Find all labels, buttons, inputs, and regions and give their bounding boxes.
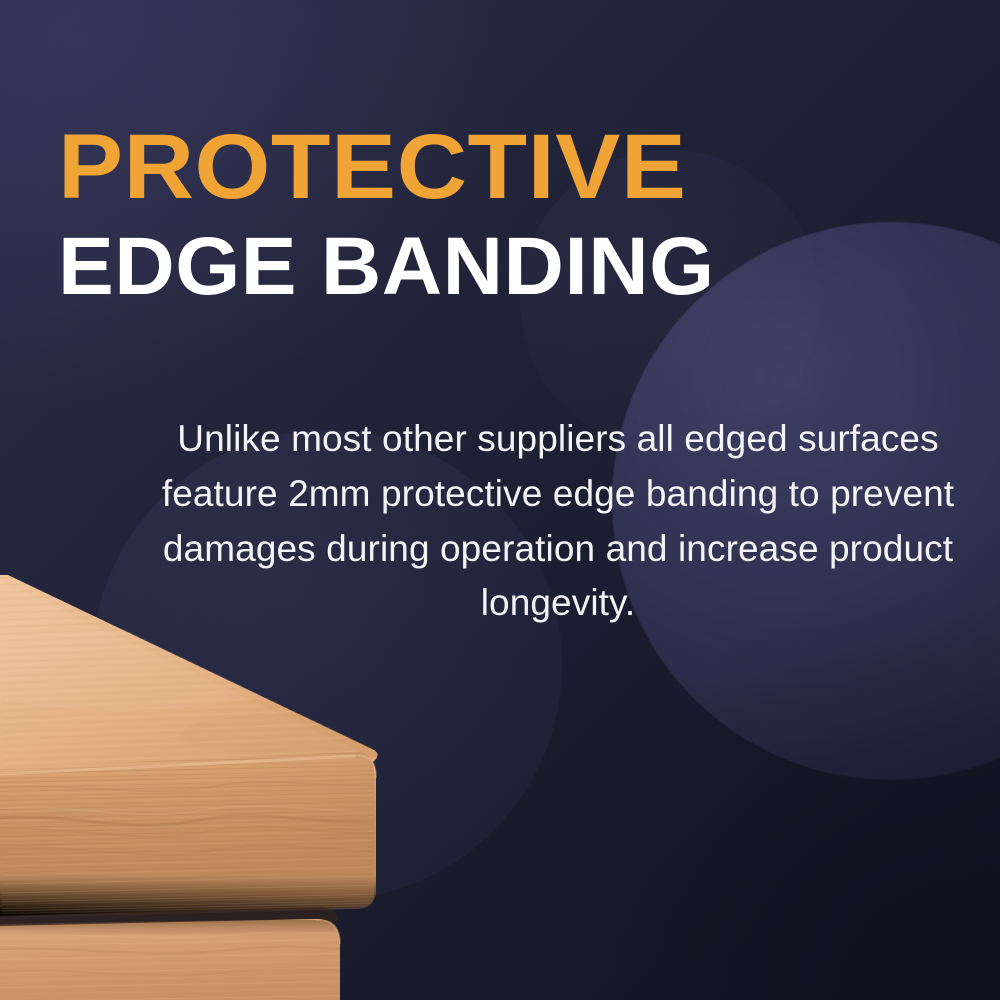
body-copy-block: Unlike most other suppliers all edged su… [120,412,996,631]
headline-block: PROTECTIVE EDGE BANDING [58,122,958,308]
headline-line-2: EDGE BANDING [58,226,976,308]
headline-line-1: PROTECTIVE [58,122,1000,212]
promo-banner: PROTECTIVE EDGE BANDING Unlike most othe… [0,0,1000,1000]
body-copy-text: Unlike most other suppliers all edged su… [120,412,996,631]
